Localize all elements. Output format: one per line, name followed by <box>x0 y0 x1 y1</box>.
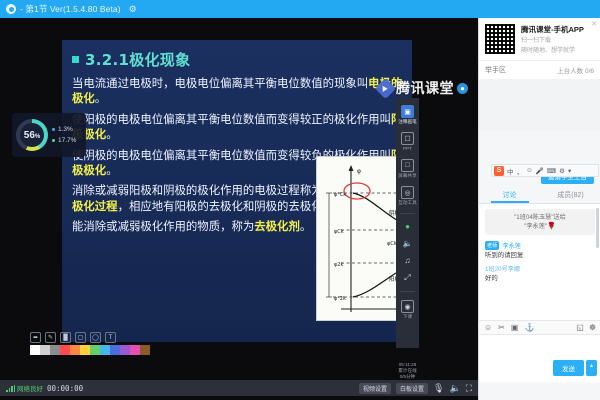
chat-toolbar: ☺ ✂ ▣ ⚓ ◱ ☸ <box>479 320 600 335</box>
hand-raise-header: 举手区 上台人数 0/6 <box>479 60 600 79</box>
stat-row: 17.7% <box>52 137 76 144</box>
color-swatch-11[interactable] <box>140 345 150 355</box>
color-swatch-7[interactable] <box>100 345 110 355</box>
promo-line1: 扫一扫下载 <box>521 37 584 45</box>
gift-line2: "李永莲"🌹 <box>490 222 590 231</box>
network-status: 网络良好 <box>6 383 43 393</box>
window-title: - 第1节 Ver(1.5.4.80 Beta) <box>20 3 121 15</box>
voice-input-icon[interactable]: 🎤 <box>536 167 544 175</box>
slide-paragraph: 使阳极的电极电位偏离其平衡电位数值而变得较正的极化作用叫阳极极化。 <box>72 112 403 143</box>
chat-input-container[interactable]: 发送 ▲ <box>479 335 600 382</box>
gift-line1: "1班04陈玉慧"送给 <box>490 213 590 222</box>
color-swatch-2[interactable] <box>50 345 60 355</box>
color-swatch-10[interactable] <box>130 345 140 355</box>
message-text: 听到的请回复 <box>485 251 595 260</box>
camera-icon: ◉ <box>401 300 414 313</box>
hand-raise-list <box>479 79 600 131</box>
emoji-icon[interactable]: ☺ <box>484 323 492 332</box>
stat-value: 1.3% <box>58 126 73 133</box>
statistics-widget[interactable]: 56% 1.3% 17.7% <box>12 113 86 157</box>
svg-text:φ: φ <box>357 168 361 175</box>
highlighter-icon[interactable]: █ <box>60 332 71 343</box>
color-swatch-1[interactable] <box>40 345 50 355</box>
panel-tabs: 讨论 成员(82) <box>479 186 600 204</box>
stat-list: 1.3% 17.7% <box>52 126 76 144</box>
status-bar-right: 视频设置 白板设置 🎙 🔈 ⛶ <box>359 383 472 394</box>
mobile-app-promo-card: 腾讯课堂-手机APP 扫一扫下载 随时随地、想学就学 ✕ <box>479 18 600 60</box>
promo-title: 腾讯课堂-手机APP <box>521 24 584 35</box>
hand-raise-label: 举手区 <box>485 65 506 75</box>
emoji-icon[interactable]: ☺ <box>526 167 533 174</box>
slide-canvas[interactable]: 3.2.1极化现象 当电流通过电极时，电极电位偏离其平衡电位数值的现象叫电极的极… <box>62 40 412 342</box>
play-badge-icon <box>375 77 396 98</box>
color-palette <box>30 345 150 355</box>
speaker-icon[interactable]: 🔈 <box>396 236 419 251</box>
highlighted-term: 去极化剂 <box>254 219 300 233</box>
send-row: 发送 ▲ <box>553 360 597 376</box>
screen-share-icon: □ <box>401 159 414 172</box>
body-text: 能消除或减弱极化作用的物质，称为 <box>72 219 254 233</box>
color-swatch-5[interactable] <box>80 345 90 355</box>
more-icon[interactable]: ▾ <box>568 167 571 175</box>
title-bar: - 第1节 Ver(1.5.4.80 Beta) ⚙ <box>0 0 600 18</box>
scissors-icon[interactable]: ✂ <box>498 323 505 332</box>
brand-watermark: 腾讯课堂 ● <box>378 78 468 98</box>
legend-dot <box>52 139 55 142</box>
progress-ring: 56% <box>16 119 48 151</box>
svg-text:φ2k: φ2k <box>334 262 343 268</box>
close-icon[interactable]: ✕ <box>591 20 597 28</box>
progress-percent: 56% <box>24 130 40 141</box>
color-swatch-0[interactable] <box>30 345 40 355</box>
settings-icon[interactable]: ☸ <box>589 323 596 332</box>
rail-label: 下课 <box>403 314 412 319</box>
status-bar: 网络良好 00:00:00 视频设置 白板设置 🎙 🔈 ⛶ <box>0 380 478 396</box>
sender-name: 1班20号李娜 <box>485 264 520 273</box>
chat-toolbar-right: ◱ ☸ <box>576 323 596 332</box>
svg-text:φ°2k: φ°2k <box>334 296 346 302</box>
cursor-icon[interactable]: ➦ <box>30 332 41 343</box>
body-text: 。 <box>106 127 117 141</box>
color-swatch-3[interactable] <box>60 345 70 355</box>
tab-members[interactable]: 成员(82) <box>540 186 600 203</box>
chat-message: 老师 李永莲 听到的请回复 <box>485 241 595 260</box>
brush-toolbar: ➦ ✎ █ ▢ ◯ T <box>30 332 116 343</box>
rail-item-screen-share[interactable]: □ 屏幕共享 <box>396 156 419 181</box>
rail-label: PPT <box>403 146 412 151</box>
body-text: 。 <box>300 219 311 233</box>
chat-message-header: 老师 李永莲 <box>485 241 595 250</box>
color-swatch-9[interactable] <box>120 345 130 355</box>
ppt-icon: ☐ <box>401 132 414 145</box>
stage-count: 上台人数 0/6 <box>557 65 594 75</box>
message-text: 好的 <box>485 274 595 283</box>
microphone-muted-icon[interactable]: 🎙 <box>433 383 444 394</box>
pen-icon[interactable]: ✎ <box>45 332 56 343</box>
pen-tool-icon: ▣ <box>401 105 414 118</box>
stage: 3.2.1极化现象 当电流通过电极时，电极电位偏离其平衡电位数值的现象叫电极的极… <box>0 18 600 400</box>
rail-label: 互动工具 <box>398 200 416 205</box>
role-badge: 老师 <box>485 241 499 250</box>
microphone-green-icon[interactable]: ● <box>396 219 419 234</box>
sogou-logo-icon: S <box>494 166 504 176</box>
rail-time-sub: 累计在线 0/5分钟 <box>396 368 419 380</box>
elapsed-time: 00:00:00 <box>47 384 83 393</box>
whiteboard-settings-button[interactable]: 白板设置 <box>396 383 428 394</box>
rail-item-ppt[interactable]: ☐ PPT <box>396 129 419 154</box>
rose-icon: 🌹 <box>547 223 556 230</box>
rail-timer: 05:11:28 累计在线 0/5分钟 <box>396 362 419 380</box>
sender-name: 李永莲 <box>502 241 521 250</box>
gear-icon[interactable]: ⚙ <box>129 4 137 15</box>
stat-value: 17.7% <box>58 137 76 144</box>
chevron-up-icon[interactable]: ▲ <box>586 360 597 376</box>
body-text: 使阳极的电极电位偏离其平衡电位数值而变得较正的极化作用叫 <box>72 112 391 126</box>
screenshot-icon[interactable]: ⚓ <box>524 323 534 332</box>
network-label: 网络良好 <box>17 383 43 393</box>
keyboard-icon[interactable]: ⌨ <box>547 167 556 175</box>
slide-paragraph: 当电流通过电极时，电极电位偏离其平衡电位数值的现象叫电极的极化。 <box>72 76 403 107</box>
send-button[interactable]: 发送 <box>553 360 584 376</box>
tencent-classroom-window: - 第1节 Ver(1.5.4.80 Beta) ⚙ 3.2.1极化现象 当电流… <box>0 0 600 400</box>
square-bullet-icon <box>72 56 79 63</box>
tool-rail: ▣ 注释画笔 ☐ PPT □ 屏幕共享 ◎ 互动工具 ● 🔈 ♫ ⤢ ◉ <box>396 98 419 348</box>
body-text: 。 <box>95 91 106 105</box>
rail-item-interaction[interactable]: ◎ 互动工具 <box>396 183 419 208</box>
color-swatch-8[interactable] <box>110 345 120 355</box>
chat-scrollbar[interactable] <box>596 208 599 248</box>
rail-divider <box>400 291 415 292</box>
chat-message: 1班20号李娜 好的 <box>485 264 595 283</box>
sogou-ime-toolbar[interactable]: S 中 ， ☺ 🎤 ⌨ ⚙ ▾ <box>491 164 599 177</box>
punctuation-icon[interactable]: ， <box>517 166 524 176</box>
body-text: 当电流通过电极时，电极电位偏离其平衡电位数值的现象叫 <box>72 76 368 90</box>
slide-title: 3.2.1极化现象 <box>72 49 412 70</box>
signal-bars-icon <box>6 385 15 392</box>
video-settings-button[interactable]: 视频设置 <box>359 383 391 394</box>
brand-name: 腾讯课堂 <box>396 78 454 98</box>
rail-item-pen[interactable]: ▣ 注释画笔 <box>396 102 419 127</box>
promo-text: 腾讯课堂-手机APP 扫一扫下载 随时随地、想学就学 <box>521 23 584 55</box>
body-text: 。 <box>106 163 117 177</box>
rail-label: 屏幕共享 <box>398 173 416 178</box>
toolbox-icon[interactable]: ⚙ <box>559 167 565 175</box>
fullscreen-icon[interactable]: ⛶ <box>466 383 472 394</box>
pin-icon[interactable]: ● <box>457 83 468 94</box>
color-swatch-4[interactable] <box>70 345 80 355</box>
promo-line2: 随时随地、想学就学 <box>521 47 584 55</box>
chat-message-header: 1班20号李娜 <box>485 264 595 273</box>
svg-text:φ°Ck: φ°Ck <box>334 192 346 198</box>
legend-dot <box>52 128 55 131</box>
interaction-tools-icon: ◎ <box>401 186 414 199</box>
rail-item-end-class[interactable]: ◉ 下课 <box>396 297 419 322</box>
app-logo-icon <box>6 4 16 14</box>
qr-code-icon <box>484 23 516 55</box>
image-icon[interactable]: ▣ <box>511 323 519 332</box>
rail-divider <box>400 213 415 214</box>
rail-label: 注释画笔 <box>398 119 416 124</box>
stat-row: 1.3% <box>52 126 76 133</box>
body-text: 消除或减弱阳极和阴极的极化作用的电极过程称为 <box>72 183 323 197</box>
chat-message-list[interactable]: "1班04陈玉慧"送给 "李永莲"🌹 老师 李永莲 听到的请回复 1班20号李娜… <box>479 204 600 320</box>
color-swatch-6[interactable] <box>90 345 100 355</box>
gift-notification: "1班04陈玉慧"送给 "李永莲"🌹 <box>485 209 595 235</box>
expand-icon[interactable]: ⤢ <box>396 270 419 286</box>
shape-icon[interactable]: ◯ <box>90 332 101 343</box>
music-icon[interactable]: ♫ <box>396 253 419 268</box>
text-icon[interactable]: T <box>105 332 116 343</box>
slide-title-text: 3.2.1极化现象 <box>85 49 190 70</box>
chinese-mode-icon[interactable]: 中 <box>507 166 514 176</box>
speaker-icon[interactable]: 🔈 <box>449 383 460 394</box>
right-panel: 腾讯课堂-手机APP 扫一扫下载 随时随地、想学就学 ✕ 举手区 上台人数 0/… <box>478 18 600 400</box>
svg-text:φCk: φCk <box>334 229 344 235</box>
history-icon[interactable]: ◱ <box>576 323 584 332</box>
eraser-icon[interactable]: ▢ <box>75 332 86 343</box>
tab-discussion[interactable]: 讨论 <box>479 186 540 203</box>
